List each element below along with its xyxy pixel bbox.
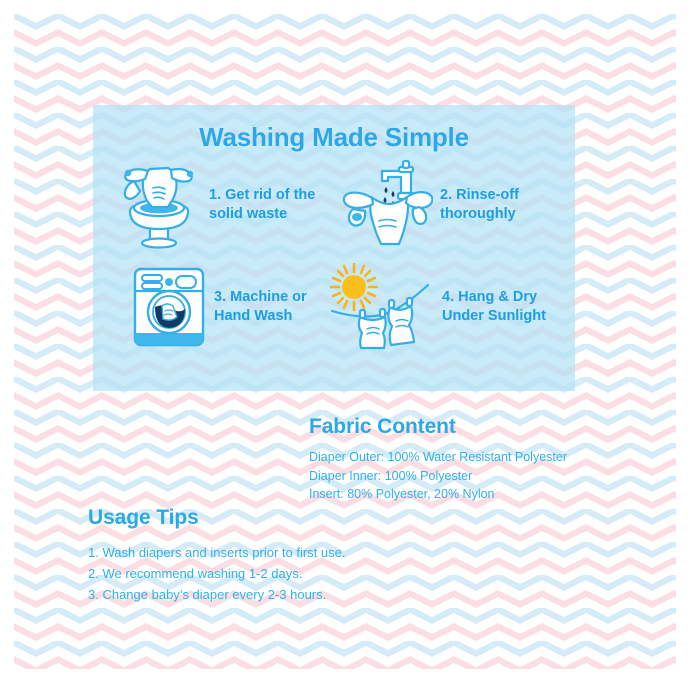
- usage-tips-heading: Usage Tips: [88, 506, 508, 530]
- step-label-3: 3. Machine or Hand Wash: [214, 288, 323, 327]
- fabric-line: Diaper Outer: 100% Water Resistant Polye…: [309, 448, 639, 467]
- clothesline-sun-icon: [329, 263, 435, 351]
- page-title: Washing Made Simple: [93, 105, 575, 153]
- step-label-1: 1. Get rid of the solid waste: [209, 186, 323, 225]
- step-label-4: 4. Hang & Dry Under Sunlight: [442, 288, 573, 327]
- faucet-rinse-icon: [341, 159, 433, 251]
- step-item-4: 4. Hang & Dry Under Sunlight: [323, 263, 573, 351]
- step-label-2: 2. Rinse-off thoroughly: [440, 186, 573, 225]
- step-item-1: 1. Get rid of the solid waste: [93, 159, 323, 251]
- steps-row-2: 3. Machine or Hand Wash: [93, 263, 575, 351]
- fabric-content-heading: Fabric Content: [309, 415, 639, 439]
- toilet-diaper-icon: [116, 159, 202, 251]
- washing-machine-icon: [131, 265, 207, 349]
- usage-tip-line: 1. Wash diapers and inserts prior to fir…: [88, 542, 508, 563]
- fabric-content-section: Fabric Content Diaper Outer: 100% Water …: [309, 415, 639, 504]
- usage-tips-section: Usage Tips 1. Wash diapers and inserts p…: [88, 506, 508, 606]
- usage-tip-line: 3. Change baby’s diaper every 2-3 hours.: [88, 584, 508, 605]
- fabric-line: Diaper Inner: 100% Polyester: [309, 467, 639, 486]
- usage-tip-line: 2. We recommend washing 1-2 days.: [88, 563, 508, 584]
- step-item-2: 2. Rinse-off thoroughly: [323, 159, 573, 251]
- fabric-line: Insert: 80% Polyester, 20% Nylon: [309, 485, 639, 504]
- washing-instructions-panel: Washing Made Simple: [93, 105, 575, 391]
- steps-row-1: 1. Get rid of the solid waste: [93, 159, 575, 251]
- step-item-3: 3. Machine or Hand Wash: [93, 263, 323, 351]
